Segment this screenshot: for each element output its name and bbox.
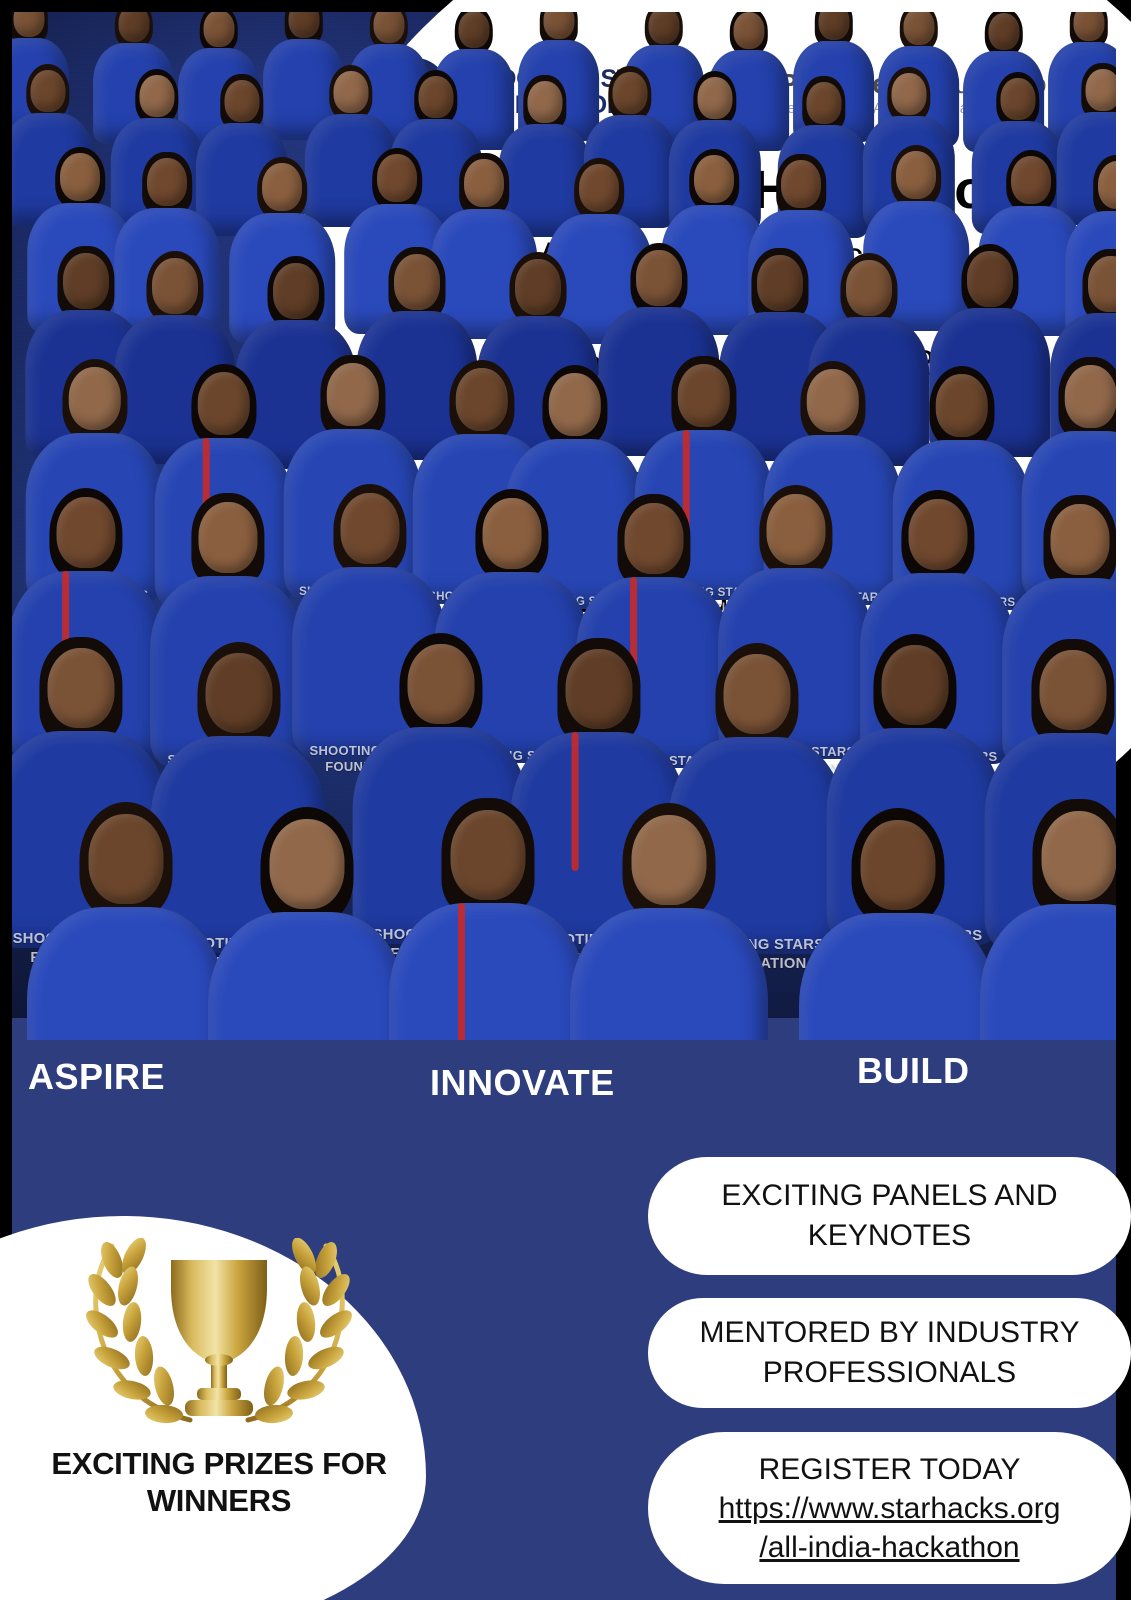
figure-head: [203, 12, 234, 47]
figure-head: [1065, 365, 1117, 428]
figure-head: [527, 81, 562, 123]
figure-head: [88, 814, 163, 904]
figure-head: [30, 70, 65, 112]
crowd-figure: SHOOTING STARSFOUNDATION: [556, 803, 781, 1040]
figure-head: [624, 503, 683, 574]
figure-head: [407, 644, 474, 724]
figure-head: [152, 258, 198, 313]
figure-head: [63, 253, 109, 308]
group-photo: SHOOTING STARSFOUNDATIONSHOOTING STARSFO…: [12, 12, 1116, 1040]
figure-lanyard: [458, 903, 465, 1040]
figure-head: [648, 12, 679, 44]
photo-canvas: SHOOTING STARSFOUNDATIONSHOOTING STARSFO…: [12, 12, 1116, 1040]
figure-head: [612, 72, 647, 114]
figure-head: [262, 163, 302, 211]
figure-head: [896, 151, 936, 199]
feature-2-line-2: PROFESSIONALS: [699, 1353, 1079, 1394]
figure-head: [549, 373, 602, 436]
figure-torso: SHOOTING STARSFOUNDATION: [570, 908, 768, 1040]
trophy-laurel-icon: [84, 1238, 354, 1433]
figure-head: [1073, 12, 1104, 41]
figure-head: [418, 76, 453, 118]
word-innovate: INNOVATE: [430, 1062, 615, 1104]
figure-head: [903, 12, 934, 45]
figure-head: [118, 12, 149, 42]
word-build: BUILD: [857, 1050, 970, 1092]
figure-head: [198, 372, 251, 435]
figure-head: [273, 263, 319, 318]
figure-torso: SHOOTING STARSFOUNDATION: [980, 904, 1117, 1040]
register-url-line-1[interactable]: https://www.starhacks.org: [719, 1489, 1061, 1528]
figure-head: [1039, 650, 1106, 730]
figure-head: [198, 502, 257, 573]
figure-head: [394, 254, 440, 309]
prizes-label: EXCITING PRIZES FOR WINNERS: [12, 1445, 426, 1519]
figure-head: [936, 374, 989, 437]
figure-head: [565, 649, 632, 729]
prizes-section: EXCITING PRIZES FOR WINNERS: [12, 1216, 426, 1592]
figure-head: [60, 153, 100, 201]
figure-head: [678, 364, 731, 427]
feature-pill-panels[interactable]: EXCITING PANELS AND KEYNOTES: [648, 1157, 1131, 1275]
figure-head: [205, 653, 272, 733]
prizes-line-1: EXCITING PRIZES FOR: [12, 1445, 426, 1482]
figure-head: [450, 810, 525, 900]
word-aspire: ASPIRE: [28, 1056, 165, 1098]
crowd-figure: SHOOTING STARSFOUNDATION: [966, 799, 1116, 1040]
figure-head: [723, 654, 790, 734]
band-words-row: ASPIRE INNOVATE BUILD: [12, 1040, 1116, 1110]
prizes-line-2: WINNERS: [12, 1482, 426, 1519]
figure-head: [579, 164, 619, 212]
figure-head: [766, 494, 825, 565]
trophy-cup-icon: [163, 1254, 275, 1424]
figure-head: [807, 369, 860, 432]
feature-pill-mentors[interactable]: MENTORED BY INDUSTRY PROFESSIONALS: [648, 1298, 1131, 1408]
register-heading: REGISTER TODAY: [719, 1450, 1061, 1489]
figure-head: [846, 260, 892, 315]
figure-head: [69, 367, 122, 430]
figure-head: [340, 493, 399, 564]
figure-head: [1041, 811, 1116, 901]
figure-head: [458, 12, 489, 48]
figure-head: [56, 497, 115, 568]
figure-head: [139, 75, 174, 117]
figure-head: [147, 158, 187, 206]
figure-head: [891, 73, 926, 115]
figure-head: [631, 815, 706, 905]
figure-head: [1050, 504, 1109, 575]
figure-head: [1011, 156, 1051, 204]
figure-head: [860, 820, 935, 910]
figure-head: [757, 255, 803, 310]
figure-head: [1000, 78, 1035, 120]
register-pill[interactable]: REGISTER TODAY https://www.starhacks.org…: [648, 1432, 1131, 1584]
figure-head: [327, 363, 380, 426]
figure-head: [694, 155, 734, 203]
figure-head: [269, 819, 344, 909]
figure-head: [224, 80, 259, 122]
figure-head: [377, 154, 417, 202]
figure-head: [908, 499, 967, 570]
poster: SHOOTING STARSFOUNDATIONSHOOTING STARSFO…: [0, 0, 1131, 1600]
feature-1-line-2: KEYNOTES: [721, 1216, 1057, 1257]
figure-head: [697, 77, 732, 119]
figure-head: [47, 648, 114, 728]
figure-head: [373, 12, 404, 43]
figure-head: [967, 251, 1013, 306]
figure-head: [636, 250, 682, 305]
figure-head: [806, 82, 841, 124]
feature-1-line-1: EXCITING PANELS AND: [721, 1176, 1057, 1217]
figure-head: [333, 71, 368, 113]
register-url-line-2[interactable]: /all-india-hackathon: [719, 1528, 1061, 1567]
figure-head: [781, 160, 821, 208]
figure-head: [733, 12, 764, 49]
figure-head: [881, 645, 948, 725]
figure-head: [482, 498, 541, 569]
figure-head: [464, 159, 504, 207]
figure-head: [515, 259, 561, 314]
feature-2-line-1: MENTORED BY INDUSTRY: [699, 1313, 1079, 1354]
figure-head: [1085, 69, 1116, 111]
figure-head: [988, 13, 1019, 50]
